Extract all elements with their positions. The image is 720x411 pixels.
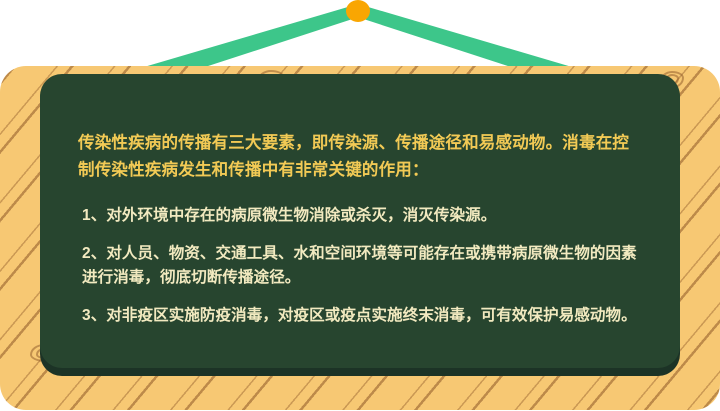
headline-text: 传染性疾病的传播有三大要素，即传染源、传播途径和易感动物。消毒在控制传染性疾病发… — [78, 130, 643, 184]
point-item-2: 2、对人员、物资、交通工具、水和空间环境等可能存在或携带病原微生物的因素进行消毒… — [82, 242, 638, 290]
point-item-3: 3、对非疫区实施防疫消毒，对疫区或疫点实施终末消毒，可有效保护易感动物。 — [82, 304, 638, 328]
points-list: 1、对外环境中存在的病原微生物消除或杀灭，消灭传染源。 2、对人员、物资、交通工… — [78, 204, 656, 328]
point-item-1: 1、对外环境中存在的病原微生物消除或杀灭，消灭传染源。 — [82, 204, 638, 228]
poster-canvas: 传染性疾病的传播有三大要素，即传染源、传播途径和易感动物。消毒在控制传染性疾病发… — [0, 0, 720, 411]
blackboard-surface: 传染性疾病的传播有三大要素，即传染源、传播途径和易感动物。消毒在控制传染性疾病发… — [40, 74, 680, 368]
blackboard-content: 传染性疾病的传播有三大要素，即传染源、传播途径和易感动物。消毒在控制传染性疾病发… — [78, 130, 656, 328]
pin-dot-icon — [346, 0, 370, 22]
